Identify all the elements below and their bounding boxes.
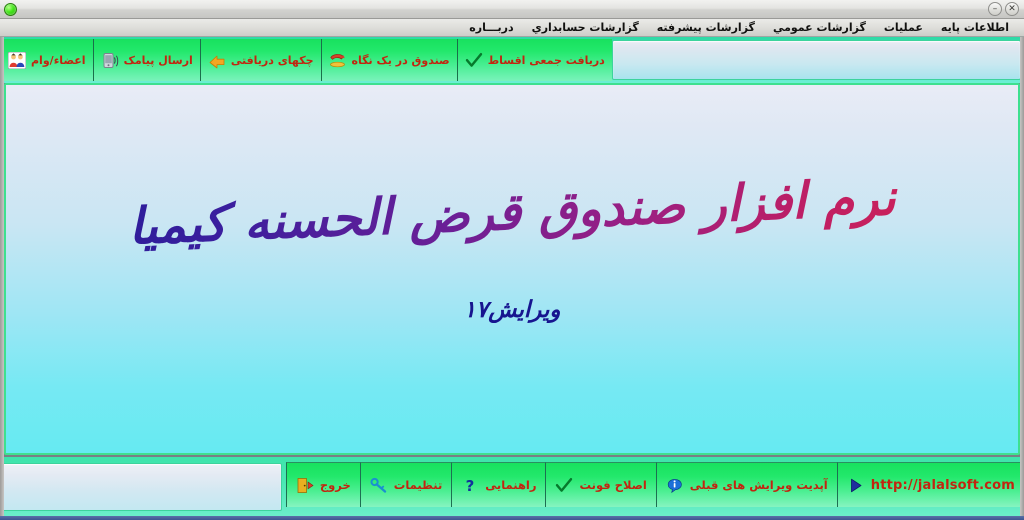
close-button[interactable]: ✕ [1005, 2, 1019, 16]
fund-overview-icon [329, 52, 347, 69]
green-check-icon [465, 52, 483, 69]
window-frame-bottom [0, 516, 1024, 520]
main-canvas-inner: نرم افزار صندوق قرض الحسنه کیمیا ویرایش۱… [6, 85, 1018, 453]
toolbar-fund-overview[interactable]: صندوق در یک نگاه [321, 39, 457, 81]
application-window: – ✕ اطلاعات پایه عملیات گزارشات عمومي گز… [0, 0, 1024, 520]
toolbar-received-cheques[interactable]: چکهای دریافتی [200, 39, 321, 81]
main-canvas: نرم افزار صندوق قرض الحسنه کیمیا ویرایش۱… [4, 83, 1020, 455]
menu-about[interactable]: دربـــاره [460, 19, 522, 36]
toolbar-members-loan[interactable]: اعضاء/وام [0, 39, 93, 81]
toolbar-members-loan-label: اعضاء/وام [31, 54, 86, 67]
window-titlebar: – ✕ [0, 0, 1024, 19]
window-controls: – ✕ [988, 2, 1024, 16]
svg-text:?: ? [466, 477, 475, 494]
bottom-website-link[interactable]: http://jalalsoft.com [837, 462, 1024, 507]
menu-operations[interactable]: عملیات [875, 19, 932, 36]
version-label: ویرایش۱۷ [6, 297, 1018, 323]
bottom-settings[interactable]: تنظیمات [360, 462, 452, 507]
green-check-icon [555, 477, 573, 494]
brand-title-wrapper: نرم افزار صندوق قرض الحسنه کیمیا [6, 181, 1018, 244]
bottom-empty-panel [0, 463, 282, 511]
menu-general-reports[interactable]: گزارشات عمومي [764, 19, 875, 36]
toolbar-bulk-installments-label: دریافت جمعی اقساط [488, 54, 605, 67]
bottom-help-label: راهنمایی [485, 478, 536, 492]
bottom-exit-label: خروج [320, 478, 351, 492]
menu-bar: اطلاعات پایه عملیات گزارشات عمومي گزارشا… [0, 19, 1024, 37]
update-info-icon [666, 477, 684, 494]
window-frame-right [1020, 37, 1024, 520]
menu-base-info[interactable]: اطلاعات پایه [932, 19, 1018, 36]
bottom-website-link-label: http://jalalsoft.com [871, 478, 1015, 493]
help-question-icon: ? [461, 477, 479, 494]
toolbar-empty-panel [612, 40, 1021, 80]
app-logo-icon [4, 3, 17, 16]
titlebar-left-group [0, 3, 21, 16]
received-cheques-icon [208, 52, 226, 69]
minimize-button[interactable]: – [988, 2, 1002, 16]
members-loan-icon [8, 52, 26, 69]
bottom-fix-font[interactable]: اصلاح فونت [545, 462, 655, 507]
window-frame-left [0, 37, 4, 520]
toolbar-send-sms[interactable]: ارسال پیامک [93, 39, 200, 81]
bottom-settings-label: تنظیمات [394, 478, 443, 492]
sms-send-icon [101, 52, 119, 69]
top-toolbar: اعضاء/وام ارسال پیامک چکهای دریافتی [0, 37, 1024, 83]
bottom-help[interactable]: ? راهنمایی [451, 462, 545, 507]
menu-advanced-reports[interactable]: گزارشات پیشرفته [648, 19, 764, 36]
settings-key-icon [370, 477, 388, 494]
bottom-update-previous[interactable]: آپدیت ویرایش های قبلی [656, 462, 837, 507]
bottom-update-previous-label: آپدیت ویرایش های قبلی [690, 478, 828, 492]
bottom-fix-font-label: اصلاح فونت [579, 478, 646, 492]
toolbar-send-sms-label: ارسال پیامک [124, 54, 193, 67]
toolbar-fund-overview-label: صندوق در یک نگاه [352, 54, 450, 67]
bottom-toolbar: خروج تنظیمات ? راهنمایی [0, 457, 1024, 520]
play-triangle-icon [847, 477, 865, 494]
toolbar-received-cheques-label: چکهای دریافتی [231, 54, 314, 67]
toolbar-bulk-installments[interactable]: دریافت جمعی اقساط [457, 39, 612, 81]
brand-title: نرم افزار صندوق قرض الحسنه کیمیا [5, 162, 1019, 263]
menu-accounting-reports[interactable]: گزارشات حسابداري [523, 19, 648, 36]
bottom-exit[interactable]: خروج [286, 462, 360, 507]
exit-door-icon [296, 477, 314, 494]
